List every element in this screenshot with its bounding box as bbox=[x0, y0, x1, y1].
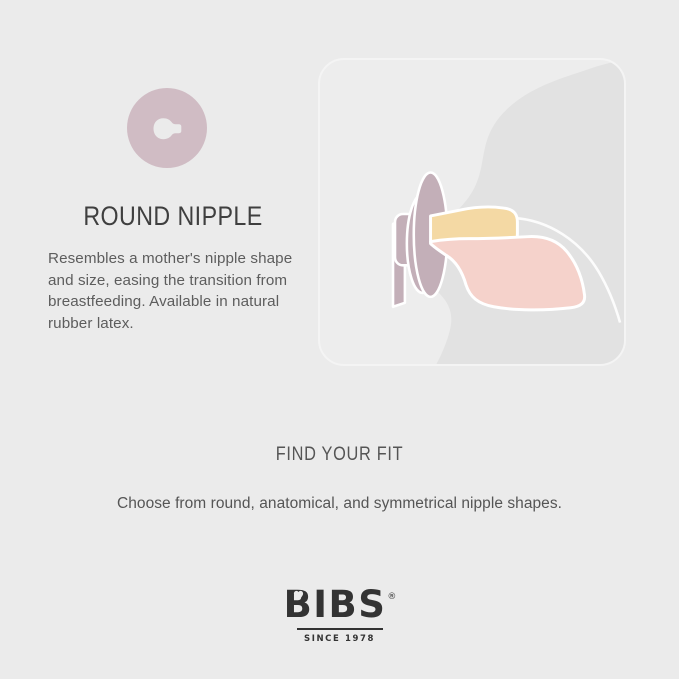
brand-name: BIBS bbox=[284, 586, 387, 623]
feature-column: ROUND NIPPLE Resembles a mother's nipple… bbox=[48, 88, 298, 334]
round-nipple-shape-icon bbox=[127, 88, 207, 168]
illustration-card bbox=[318, 58, 626, 366]
feature-title: ROUND NIPPLE bbox=[66, 201, 281, 232]
brand-mark: BIBS® bbox=[284, 586, 396, 623]
find-your-fit-subtitle: Choose from round, anatomical, and symme… bbox=[0, 495, 679, 513]
product-feature-panel: ROUND NIPPLE Resembles a mother's nipple… bbox=[0, 0, 679, 679]
find-your-fit-title: FIND YOUR FIT bbox=[48, 444, 632, 466]
brand-tagline: SINCE 1978 bbox=[0, 634, 679, 644]
pacifier-in-mouth-diagram bbox=[320, 60, 624, 364]
brand-divider bbox=[297, 628, 383, 630]
find-your-fit-block: FIND YOUR FIT Choose from round, anatomi… bbox=[0, 444, 679, 513]
registered-trademark-icon: ® bbox=[387, 592, 396, 602]
feature-description: Resembles a mother's nipple shape and si… bbox=[48, 248, 298, 334]
brand-logo: BIBS® SINCE 1978 bbox=[0, 586, 679, 644]
